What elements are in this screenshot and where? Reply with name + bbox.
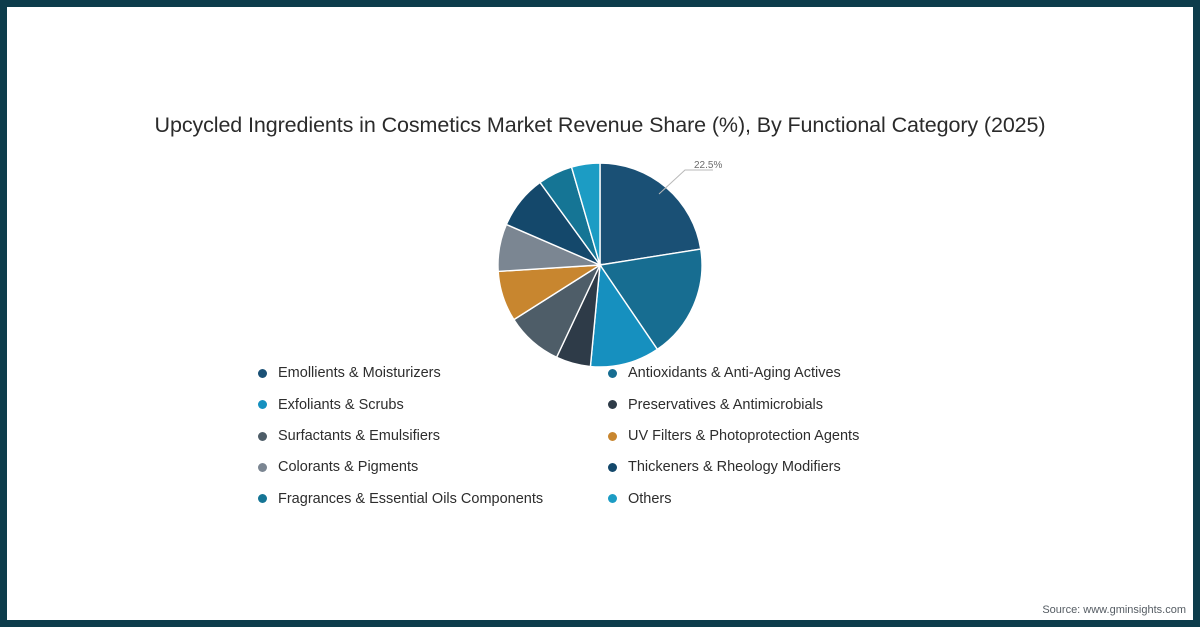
legend-item-label: UV Filters & Photoprotection Agents	[628, 429, 859, 444]
legend-item-label: Antioxidants & Anti-Aging Actives	[628, 366, 841, 381]
chart-canvas: Upcycled Ingredients in Cosmetics Market…	[0, 0, 1200, 627]
legend-color-swatch-icon	[258, 400, 267, 409]
legend-item[interactable]: Emollients & Moisturizers	[258, 358, 543, 389]
legend-item[interactable]: Exfoliants & Scrubs	[258, 389, 543, 420]
legend-item-label: Emollients & Moisturizers	[278, 366, 441, 381]
frame-border-left	[0, 0, 7, 627]
legend-column-right: Antioxidants & Anti-Aging ActivesPreserv…	[608, 358, 859, 514]
slice-percentage-label: 22.5%	[694, 160, 722, 171]
chart-title: Upcycled Ingredients in Cosmetics Market…	[0, 113, 1200, 138]
legend-item[interactable]: Others	[608, 483, 859, 514]
legend-color-swatch-icon	[258, 369, 267, 378]
legend-color-swatch-icon	[608, 369, 617, 378]
legend-item[interactable]: Thickeners & Rheology Modifiers	[608, 452, 859, 483]
legend-item[interactable]: Antioxidants & Anti-Aging Actives	[608, 358, 859, 389]
source-attribution: Source: www.gminsights.com	[1042, 604, 1186, 616]
legend-color-swatch-icon	[258, 494, 267, 503]
legend-item-label: Surfactants & Emulsifiers	[278, 429, 440, 444]
legend-column-left: Emollients & MoisturizersExfoliants & Sc…	[258, 358, 543, 514]
legend-color-swatch-icon	[608, 400, 617, 409]
legend-item[interactable]: Preservatives & Antimicrobials	[608, 389, 859, 420]
legend-color-swatch-icon	[608, 432, 617, 441]
legend-item-label: Preservatives & Antimicrobials	[628, 398, 823, 413]
legend-item[interactable]: Fragrances & Essential Oils Components	[258, 483, 543, 514]
legend-item-label: Colorants & Pigments	[278, 460, 418, 475]
legend-item[interactable]: Surfactants & Emulsifiers	[258, 421, 543, 452]
frame-border-bottom	[0, 620, 1200, 627]
legend-item-label: Fragrances & Essential Oils Components	[278, 492, 543, 507]
legend-item-label: Others	[628, 492, 672, 507]
legend-color-swatch-icon	[608, 463, 617, 472]
legend-color-swatch-icon	[258, 463, 267, 472]
frame-border-top	[0, 0, 1200, 7]
legend-color-swatch-icon	[258, 432, 267, 441]
legend-item[interactable]: Colorants & Pigments	[258, 452, 543, 483]
legend-item-label: Exfoliants & Scrubs	[278, 398, 404, 413]
legend-item-label: Thickeners & Rheology Modifiers	[628, 460, 841, 475]
frame-border-right	[1193, 0, 1200, 627]
legend-item[interactable]: UV Filters & Photoprotection Agents	[608, 421, 859, 452]
legend-color-swatch-icon	[608, 494, 617, 503]
